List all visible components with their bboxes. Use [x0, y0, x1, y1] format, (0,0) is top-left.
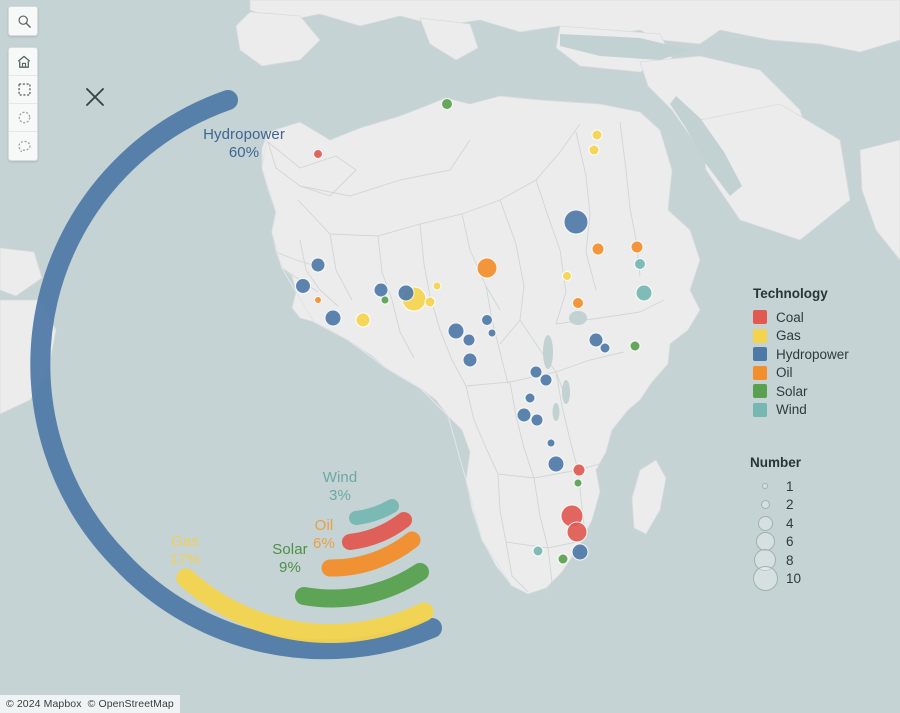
lasso-select-icon — [17, 139, 32, 154]
map-attribution: © 2024 Mapbox © OpenStreetMap — [0, 695, 180, 713]
legend-number-label: 10 — [786, 571, 801, 586]
map-point-hydropower[interactable] — [463, 353, 477, 367]
map-point-hydropower[interactable] — [488, 329, 496, 337]
lasso-select-button[interactable] — [9, 132, 38, 160]
map-point-coal[interactable] — [314, 150, 323, 159]
rectangle-select-button[interactable] — [9, 76, 38, 104]
legend-number-label: 8 — [786, 553, 794, 568]
legend-swatch-coal — [753, 310, 767, 324]
close-icon — [84, 95, 106, 112]
map-point-hydropower[interactable] — [517, 408, 531, 422]
legend-number-circle — [761, 500, 770, 509]
legend-number: Number 1246810 — [750, 455, 801, 588]
legend-swatch-gas — [753, 329, 767, 343]
legend-technology-title: Technology — [753, 286, 849, 301]
map-point-coal[interactable] — [573, 464, 585, 476]
map-point-hydropower[interactable] — [325, 310, 341, 326]
map-point-gas[interactable] — [433, 282, 441, 290]
map-point-oil[interactable] — [631, 241, 643, 253]
map-point-hydropower[interactable] — [374, 283, 388, 297]
map-point-gas[interactable] — [592, 130, 602, 140]
rectangle-select-icon — [17, 82, 32, 97]
legend-number-label: 4 — [786, 516, 794, 531]
attribution-osm[interactable]: © OpenStreetMap — [88, 698, 174, 710]
legend-swatch-wind — [753, 403, 767, 417]
legend-number-item-6: 6 — [750, 533, 801, 552]
search-button[interactable] — [9, 7, 38, 35]
map-point-hydropower[interactable] — [448, 323, 464, 339]
attribution-mapbox[interactable]: © 2024 Mapbox — [6, 698, 82, 710]
map-point-wind[interactable] — [635, 259, 646, 270]
legend-swatch-solar — [753, 384, 767, 398]
map-point-hydropower[interactable] — [572, 544, 588, 560]
map-point-oil[interactable] — [315, 297, 322, 304]
map-point-hydropower[interactable] — [564, 210, 588, 234]
close-button[interactable] — [84, 86, 108, 110]
legend-technology-label: Wind — [776, 402, 807, 417]
legend-number-item-1: 1 — [750, 477, 801, 496]
legend-technology-label: Oil — [776, 365, 793, 380]
map-point-hydropower[interactable] — [463, 334, 475, 346]
legend-technology-items: CoalGasHydropowerOilSolarWind — [753, 308, 849, 419]
map-point-wind[interactable] — [636, 285, 652, 301]
radial-select-button[interactable] — [9, 104, 38, 132]
map-point-hydropower[interactable] — [547, 439, 555, 447]
map-toolbar — [8, 6, 38, 161]
legend-technology-item-gas[interactable]: Gas — [753, 327, 849, 346]
legend-number-items: 1246810 — [750, 477, 801, 588]
map-point-oil[interactable] — [477, 258, 497, 278]
map-point-hydropower[interactable] — [540, 374, 552, 386]
legend-number-circle — [762, 483, 768, 489]
legend-technology: Technology CoalGasHydropowerOilSolarWind — [753, 286, 849, 419]
map-point-wind[interactable] — [533, 546, 543, 556]
map-toolbar-group-tools — [8, 47, 38, 161]
map-point-oil[interactable] — [573, 298, 584, 309]
map-point-coal[interactable] — [567, 522, 587, 542]
legend-swatch-oil — [753, 366, 767, 380]
map-point-oil[interactable] — [592, 243, 604, 255]
legend-number-label: 6 — [786, 534, 794, 549]
map-point-hydropower[interactable] — [398, 285, 414, 301]
map-point-gas[interactable] — [563, 272, 572, 281]
legend-swatch-hydropower — [753, 347, 767, 361]
legend-number-label: 1 — [786, 479, 794, 494]
legend-technology-label: Coal — [776, 310, 804, 325]
map-point-hydropower[interactable] — [531, 414, 543, 426]
map-point-gas[interactable] — [356, 313, 370, 327]
legend-number-item-2: 2 — [750, 496, 801, 515]
map-point-solar[interactable] — [558, 554, 568, 564]
legend-technology-item-coal[interactable]: Coal — [753, 308, 849, 327]
legend-number-slot — [750, 566, 780, 591]
legend-number-item-4: 4 — [750, 514, 801, 533]
legend-number-slot — [750, 516, 780, 531]
legend-number-item-10: 10 — [750, 570, 801, 589]
map-application: Hydropower 60% Gas 17% Solar 9% Oil 6% W… — [0, 0, 900, 713]
legend-number-label: 2 — [786, 497, 794, 512]
legend-number-slot — [750, 500, 780, 509]
map-point-hydropower[interactable] — [296, 279, 311, 294]
home-icon — [16, 54, 32, 70]
home-button[interactable] — [9, 48, 38, 76]
legend-technology-item-solar[interactable]: Solar — [753, 382, 849, 401]
map-toolbar-group-search — [8, 6, 38, 36]
map-point-hydropower[interactable] — [548, 456, 564, 472]
legend-number-slot — [750, 483, 780, 489]
legend-technology-item-oil[interactable]: Oil — [753, 364, 849, 383]
legend-number-circle — [753, 566, 778, 591]
legend-number-circle — [758, 516, 773, 531]
legend-technology-item-hydropower[interactable]: Hydropower — [753, 345, 849, 364]
map-point-hydropower[interactable] — [530, 366, 542, 378]
map-point-solar[interactable] — [630, 341, 640, 351]
radial-select-icon — [17, 110, 32, 125]
map-point-hydropower[interactable] — [482, 315, 493, 326]
legend-technology-label: Hydropower — [776, 347, 849, 362]
map-point-solar[interactable] — [442, 99, 453, 110]
map-point-gas[interactable] — [589, 145, 599, 155]
map-point-solar[interactable] — [574, 479, 582, 487]
map-point-hydropower[interactable] — [311, 258, 325, 272]
legend-number-title: Number — [750, 455, 801, 470]
legend-technology-label: Gas — [776, 328, 801, 343]
map-point-hydropower[interactable] — [600, 343, 610, 353]
legend-technology-label: Solar — [776, 384, 808, 399]
map-point-gas[interactable] — [425, 297, 435, 307]
map-point-hydropower[interactable] — [525, 393, 535, 403]
legend-technology-item-wind[interactable]: Wind — [753, 401, 849, 420]
map-point-solar[interactable] — [381, 296, 389, 304]
search-icon — [17, 14, 32, 29]
